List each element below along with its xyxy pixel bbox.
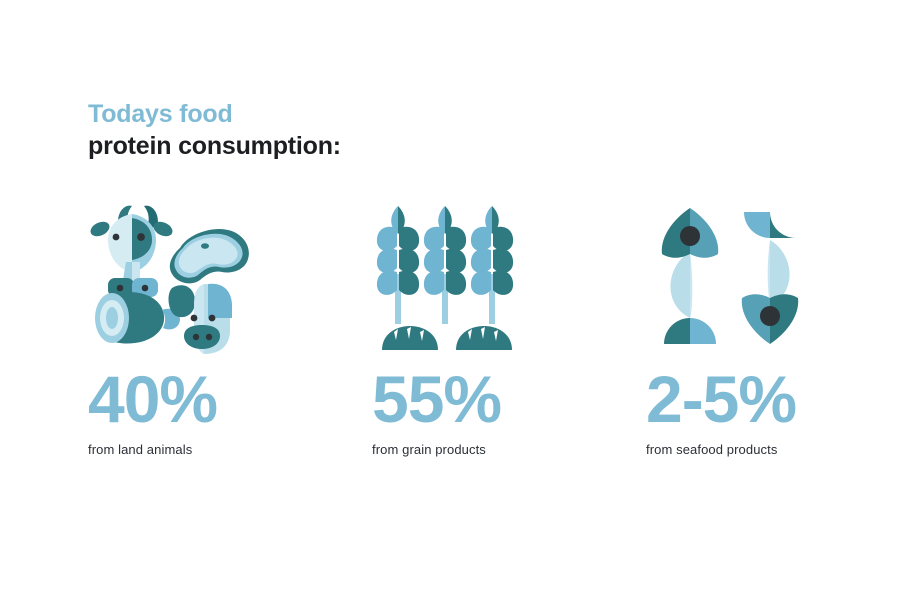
seafood-products-icon — [646, 200, 866, 360]
stat-value: 40% — [88, 366, 368, 432]
stat-column-land-animals: 40% from land animals — [88, 200, 368, 457]
wheat-stalk-icon — [424, 206, 466, 324]
stat-caption: from seafood products — [646, 442, 900, 457]
ham-icon — [95, 292, 180, 343]
bread-loaf-icon — [382, 326, 438, 350]
land-animals-icon — [88, 200, 308, 360]
stat-value: 2-5% — [646, 366, 900, 432]
stat-column-seafood-products: 2-5% from seafood products — [646, 200, 900, 457]
wheat-stalk-icon — [377, 206, 419, 324]
grain-products-icon — [372, 200, 592, 360]
cow-head-icon — [88, 206, 175, 297]
seafood-illustration — [646, 200, 806, 355]
title-line-accent: Todays food — [88, 98, 341, 130]
fish-down-icon — [742, 212, 798, 344]
stat-caption: from land animals — [88, 442, 368, 457]
stat-caption: from grain products — [372, 442, 652, 457]
stat-column-grain-products: 55% from grain products — [372, 200, 652, 457]
steak-icon — [170, 229, 249, 283]
title-line-main: protein consumption: — [88, 130, 341, 162]
wheat-stalk-icon — [471, 206, 513, 324]
stat-value: 55% — [372, 366, 652, 432]
fish-up-icon — [662, 208, 718, 344]
land-animals-illustration — [88, 200, 253, 355]
page-title: Todays food protein consumption: — [88, 98, 341, 162]
bread-loaf-icon — [456, 326, 512, 350]
grain-products-illustration — [372, 200, 522, 355]
infographic-canvas: Todays food protein consumption: — [0, 0, 900, 600]
